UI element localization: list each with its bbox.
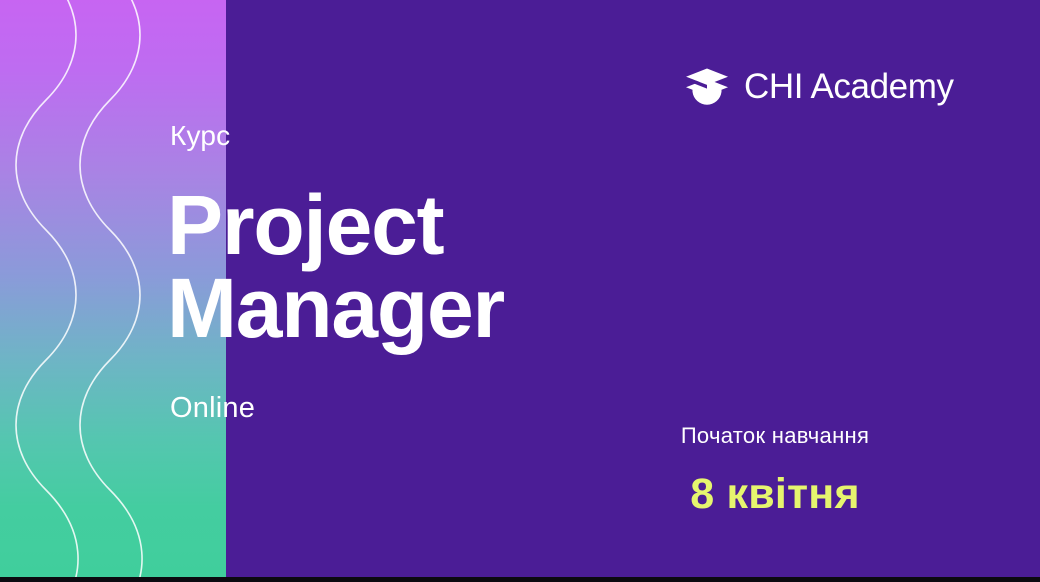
start-date-value: 8 квітня <box>610 473 940 516</box>
start-date-label: Початок навчання <box>610 425 940 447</box>
brand-wordmark: CHI Academy <box>744 69 954 104</box>
course-format-label: Online <box>170 394 255 423</box>
course-kicker-label: Курс <box>170 122 230 150</box>
start-date-block: Початок навчання 8 квітня <box>610 425 940 516</box>
bottom-edge-bar <box>0 577 1040 582</box>
course-title: Project Manager <box>167 184 504 350</box>
brand-logo-lockup[interactable]: CHI Academy <box>683 62 954 110</box>
graduation-cap-stack-icon <box>683 62 731 110</box>
course-promo-banner: CHI Academy Курс Project Manager Online … <box>0 0 1040 582</box>
